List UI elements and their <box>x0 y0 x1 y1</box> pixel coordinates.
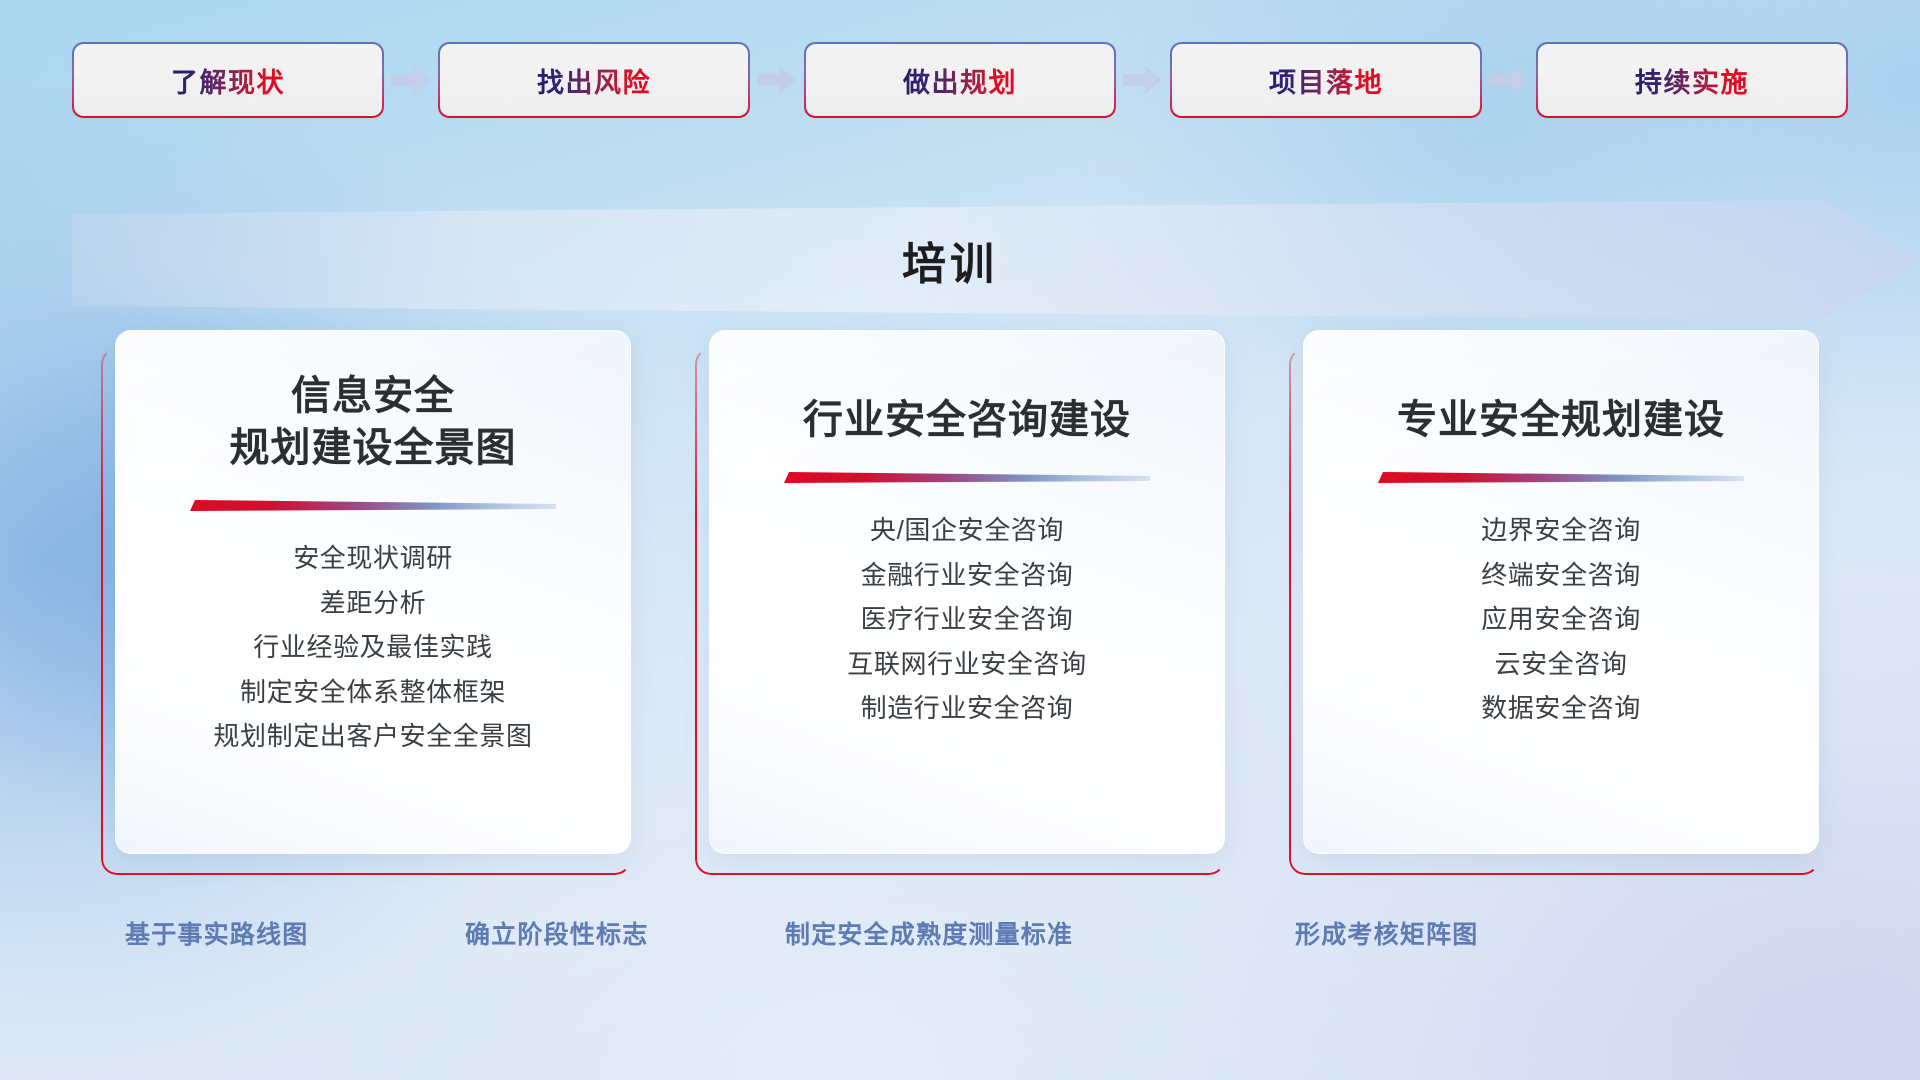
list-item: 央/国企安全咨询 <box>870 516 1064 545</box>
card-row: 信息安全 规划建设全景图 安全现状调研 差距分析 行业经验及最佳实践 制定安全体… <box>0 330 1920 890</box>
card-list-1: 安全现状调研 差距分析 行业经验及最佳实践 制定安全体系整体框架 规划制定出客户… <box>213 544 532 751</box>
list-item: 互联网行业安全咨询 <box>847 650 1086 679</box>
step-label-4: 项目落地 <box>1269 61 1383 100</box>
card-slot-3: 专业安全规划建设 边界安全咨询 终端安全咨询 应用安全咨询 云安全咨询 数据安全… <box>1289 330 1819 875</box>
caption-row: 基于事实路线图 确立阶段性标志 制定安全成熟度测量标准 形成考核矩阵图 <box>0 915 1920 985</box>
card-title-2: 行业安全咨询建设 <box>803 370 1131 446</box>
list-item: 医疗行业安全咨询 <box>861 605 1074 634</box>
card-divider-2 <box>784 472 1150 486</box>
training-banner-label: 培训 <box>902 228 998 292</box>
card-divider-3 <box>1378 472 1744 486</box>
step-arrow-icon-2 <box>748 44 806 116</box>
card-slot-1: 信息安全 规划建设全景图 安全现状调研 差距分析 行业经验及最佳实践 制定安全体… <box>101 330 631 875</box>
process-step-strip: 了解现状 找出风险 做出规划 项目落地 持续实施 <box>0 0 1920 160</box>
list-item: 差距分析 <box>320 589 426 618</box>
card-1[interactable]: 信息安全 规划建设全景图 安全现状调研 差距分析 行业经验及最佳实践 制定安全体… <box>115 330 631 854</box>
list-item: 制定安全体系整体框架 <box>240 678 506 707</box>
card-3[interactable]: 专业安全规划建设 边界安全咨询 终端安全咨询 应用安全咨询 云安全咨询 数据安全… <box>1303 330 1819 854</box>
caption-4: 形成考核矩阵图 <box>1295 915 1478 951</box>
caption-2: 确立阶段性标志 <box>465 915 648 951</box>
list-item: 行业经验及最佳实践 <box>253 633 492 662</box>
list-item: 金融行业安全咨询 <box>861 561 1074 590</box>
list-item: 规划制定出客户安全全景图 <box>213 722 532 751</box>
card-title-1: 信息安全 规划建设全景图 <box>230 370 517 474</box>
step-label-5: 持续实施 <box>1635 61 1749 100</box>
list-item: 云安全咨询 <box>1494 650 1627 679</box>
step-box-2[interactable]: 找出风险 <box>440 44 748 116</box>
step-box-3[interactable]: 做出规划 <box>806 44 1114 116</box>
training-banner-text-wrap: 培训 <box>0 200 1920 320</box>
training-banner: 培训 <box>0 200 1920 320</box>
card-list-3: 边界安全咨询 终端安全咨询 应用安全咨询 云安全咨询 数据安全咨询 <box>1481 516 1641 723</box>
card-2[interactable]: 行业安全咨询建设 央/国企安全咨询 金融行业安全咨询 医疗行业安全咨询 互联网行… <box>709 330 1225 854</box>
card-divider-1 <box>190 500 556 514</box>
card-list-2: 央/国企安全咨询 金融行业安全咨询 医疗行业安全咨询 互联网行业安全咨询 制造行… <box>847 516 1086 723</box>
step-box-1[interactable]: 了解现状 <box>74 44 382 116</box>
list-item: 终端安全咨询 <box>1481 561 1641 590</box>
step-label-2: 找出风险 <box>537 61 651 100</box>
step-label-3: 做出规划 <box>903 61 1017 100</box>
step-arrow-icon-1 <box>382 44 440 116</box>
list-item: 边界安全咨询 <box>1481 516 1641 545</box>
step-label-1: 了解现状 <box>171 61 285 100</box>
step-box-4[interactable]: 项目落地 <box>1172 44 1480 116</box>
list-item: 数据安全咨询 <box>1481 694 1641 723</box>
caption-3: 制定安全成熟度测量标准 <box>785 915 1073 951</box>
caption-1: 基于事实路线图 <box>125 915 308 951</box>
slide-canvas: 了解现状 找出风险 做出规划 项目落地 持续实施 培训 <box>0 0 1920 1080</box>
step-arrow-icon-3 <box>1114 44 1172 116</box>
list-item: 安全现状调研 <box>293 544 453 573</box>
list-item: 应用安全咨询 <box>1481 605 1641 634</box>
card-title-3: 专业安全规划建设 <box>1397 370 1725 446</box>
list-item: 制造行业安全咨询 <box>861 694 1074 723</box>
step-arrow-icon-4 <box>1480 44 1538 116</box>
step-box-5[interactable]: 持续实施 <box>1538 44 1846 116</box>
card-slot-2: 行业安全咨询建设 央/国企安全咨询 金融行业安全咨询 医疗行业安全咨询 互联网行… <box>695 330 1225 875</box>
